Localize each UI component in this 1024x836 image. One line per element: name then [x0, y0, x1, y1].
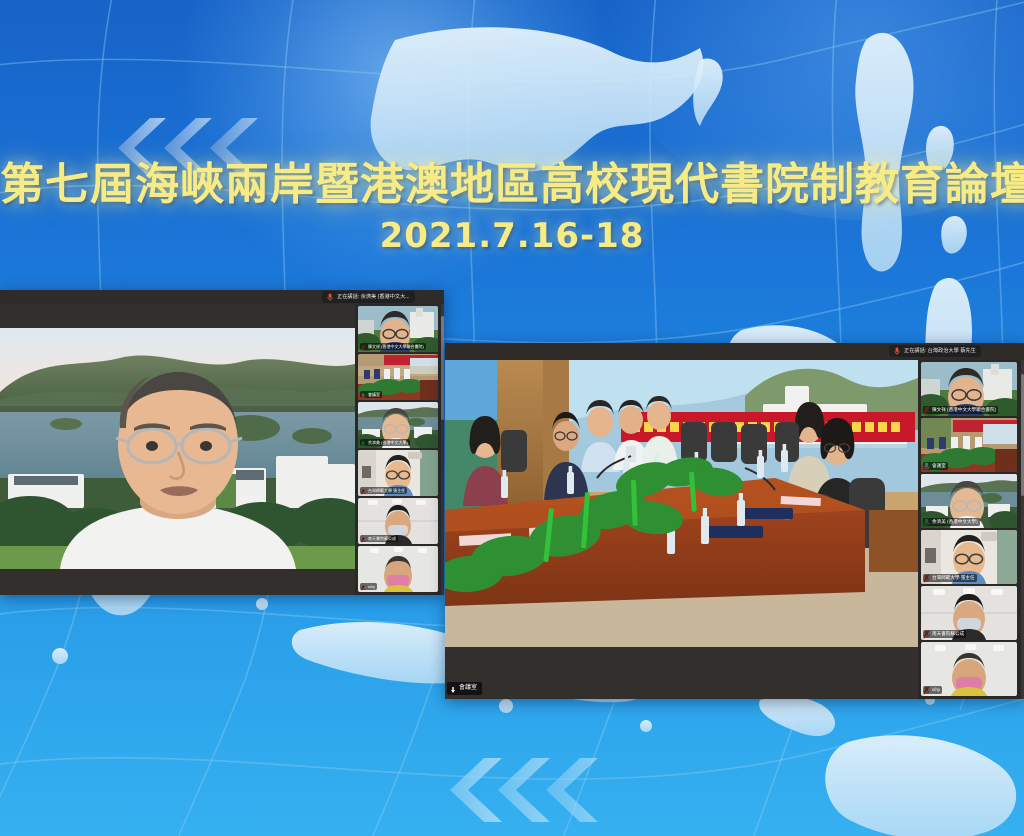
right-main-video[interactable]: 會議室: [445, 360, 918, 699]
zoom-window-left[interactable]: 正在講話: 余濟美 (香港中文大...: [0, 290, 444, 595]
right-filmstrip[interactable]: 陳文祥 (香港中文大學聯合書院) 會議室: [918, 360, 1024, 699]
left-thumb-label-2: 余濟美 (香港中文大學): [360, 439, 410, 446]
left-thumb-3[interactable]: 台灣師範大學 張主任: [358, 450, 438, 496]
left-thumb-label-3: 台灣師範大學 張主任: [360, 487, 407, 494]
right-thumb-label-5: cihy: [923, 686, 942, 694]
left-speaking-label: 正在講話: 余濟美 (香港中文大...: [337, 292, 410, 302]
right-thumb-label-1: 會議室: [923, 462, 948, 470]
left-speaker-person: [0, 328, 355, 569]
pin-icon: [450, 685, 456, 693]
right-room-label-text: 會議室: [459, 683, 477, 694]
left-thumb-1[interactable]: 會議室: [358, 354, 438, 400]
right-speaking-indicator: 正在講話: 台灣政治大學 蔡先生: [889, 345, 981, 357]
left-filmstrip-scrollbar[interactable]: [441, 304, 444, 595]
left-thumb-label-4: 南天書院蘇公成: [360, 535, 398, 542]
right-speaking-label: 正在講話: 台灣政治大學 蔡先生: [904, 346, 976, 356]
left-thumb-label-5: cihy: [360, 583, 377, 590]
right-thumb-1[interactable]: 會議室: [921, 418, 1017, 472]
chevron-group-bottom: [450, 758, 598, 822]
left-thumb-label-0: 陳文祥 (香港中文大學聯合書院): [360, 343, 426, 350]
right-thumb-0[interactable]: 陳文祥 (香港中文大學聯合書院): [921, 362, 1017, 416]
right-thumb-2[interactable]: 余濟美 (香港中文大學): [921, 474, 1017, 528]
right-thumb-5[interactable]: cihy: [921, 642, 1017, 696]
chevron-group-top: [118, 118, 258, 178]
right-thumb-label-0: 陳文祥 (香港中文大學聯合書院): [923, 406, 998, 414]
microphone-icon: [327, 293, 333, 301]
slide-canvas: 第七屆海峽兩岸暨港澳地區高校現代書院制教育論壇 2021.7.16-18 正在講…: [0, 0, 1024, 836]
left-filmstrip[interactable]: 陳文祥 (香港中文大學聯合書院) 會議室: [355, 304, 444, 595]
left-thumb-5[interactable]: cihy: [358, 546, 438, 592]
left-thumb-4[interactable]: 南天書院蘇公成: [358, 498, 438, 544]
right-thumb-4[interactable]: 南天書院蘇公成: [921, 586, 1017, 640]
right-thumb-label-3: 台灣師範大學 張主任: [923, 574, 977, 582]
left-thumb-label-1: 會議室: [360, 391, 382, 398]
left-thumb-0[interactable]: 陳文祥 (香港中文大學聯合書院): [358, 306, 438, 352]
left-speaking-indicator: 正在講話: 余濟美 (香港中文大...: [322, 291, 415, 303]
left-main-video[interactable]: [0, 304, 355, 595]
zoom-window-right[interactable]: 正在講話: 台灣政治大學 蔡先生: [445, 343, 1024, 699]
conference-room-scene: [445, 360, 918, 647]
right-thumb-label-2: 余濟美 (香港中文大學): [923, 518, 980, 526]
left-thumb-2[interactable]: 余濟美 (香港中文大學): [358, 402, 438, 448]
microphone-icon: [894, 347, 900, 355]
right-room-label: 會議室: [447, 682, 482, 695]
right-thumb-label-4: 南天書院蘇公成: [923, 630, 966, 638]
right-thumb-3[interactable]: 台灣師範大學 張主任: [921, 530, 1017, 584]
